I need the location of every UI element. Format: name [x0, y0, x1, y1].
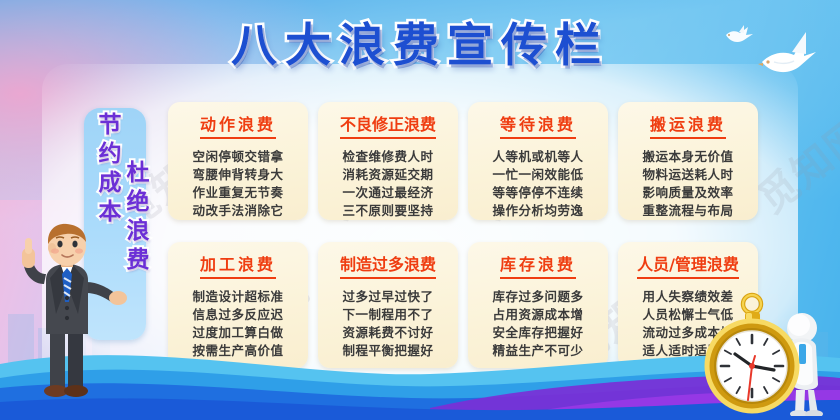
card-header: 人员/管理浪费: [618, 255, 758, 279]
card-title: 搬运浪费: [650, 116, 726, 139]
card-line: 弯腰伸背转身大: [168, 166, 308, 184]
card-body: 检查维修费人时 消耗资源延交期 一次通过最经济 三不原则要坚持: [318, 148, 458, 220]
card-line: 一忙一闲效能低: [468, 166, 608, 184]
card-line: 检查维修费人时: [318, 148, 458, 166]
card-title: 动作浪费: [200, 116, 276, 139]
card-line: 信息过多反应迟: [168, 306, 308, 324]
card-line: 物料运送耗人时: [618, 166, 758, 184]
card-title: 等待浪费: [500, 116, 576, 139]
card-header: 加工浪费: [168, 255, 308, 279]
card-line: 空闲停顿交错拿: [168, 148, 308, 166]
waste-card[interactable]: 不良修正浪费 检查维修费人时 消耗资源延交期 一次通过最经济 三不原则要坚持: [318, 102, 458, 220]
card-line: 搬运本身无价值: [618, 148, 758, 166]
card-line: 影响质量及效率: [618, 184, 758, 202]
card-line: 过多过早过快了: [318, 288, 458, 306]
card-line: 动改手法消除它: [168, 202, 308, 220]
card-title: 加工浪费: [200, 256, 276, 279]
card-title: 不良修正浪费: [340, 116, 436, 139]
card-body: 人等机或机等人 一忙一闲效能低 等等停停不连续 操作分析均劳逸: [468, 148, 608, 220]
poster-root: 觅知网 觅知网 觅知网 觅知网 觅知网 觅知网 八大浪费宣传栏 节约成本 杜绝浪…: [0, 0, 840, 420]
page-title: 八大浪费宣传栏: [231, 18, 609, 72]
card-header: 动作浪费: [168, 115, 308, 139]
card-line: 消耗资源延交期: [318, 166, 458, 184]
card-title: 制造过多浪费: [340, 256, 436, 279]
waste-card[interactable]: 等待浪费 人等机或机等人 一忙一闲效能低 等等停停不连续 操作分析均劳逸: [468, 102, 608, 220]
card-title: 人员/管理浪费: [637, 256, 739, 279]
waste-card[interactable]: 搬运浪费 搬运本身无价值 物料运送耗人时 影响质量及效率 重整流程与布局: [618, 102, 758, 220]
card-line: 制造设计超标准: [168, 288, 308, 306]
card-line: 重整流程与布局: [618, 202, 758, 220]
card-body: 搬运本身无价值 物料运送耗人时 影响质量及效率 重整流程与布局: [618, 148, 758, 220]
card-line: 作业重复无节奏: [168, 184, 308, 202]
poster-title-container: 八大浪费宣传栏: [0, 18, 840, 72]
card-header: 等待浪费: [468, 115, 608, 139]
card-line: 等等停停不连续: [468, 184, 608, 202]
card-line: 库存过多问题多: [468, 288, 608, 306]
card-line: 一次通过最经济: [318, 184, 458, 202]
card-header: 搬运浪费: [618, 115, 758, 139]
card-line: 操作分析均劳逸: [468, 202, 608, 220]
stopwatch-illustration: [700, 292, 840, 416]
waste-card[interactable]: 动作浪费 空闲停顿交错拿 弯腰伸背转身大 作业重复无节奏 动改手法消除它: [168, 102, 308, 220]
card-header: 制造过多浪费: [318, 255, 458, 279]
card-line: 三不原则要坚持: [318, 202, 458, 220]
card-header: 库存浪费: [468, 255, 608, 279]
businessman-illustration: [6, 222, 128, 400]
card-line: 占用资源成本增: [468, 306, 608, 324]
card-title: 库存浪费: [500, 256, 576, 279]
card-header: 不良修正浪费: [318, 115, 458, 139]
card-body: 空闲停顿交错拿 弯腰伸背转身大 作业重复无节奏 动改手法消除它: [168, 148, 308, 220]
card-line: 人等机或机等人: [468, 148, 608, 166]
card-line: 下一制程用不了: [318, 306, 458, 324]
